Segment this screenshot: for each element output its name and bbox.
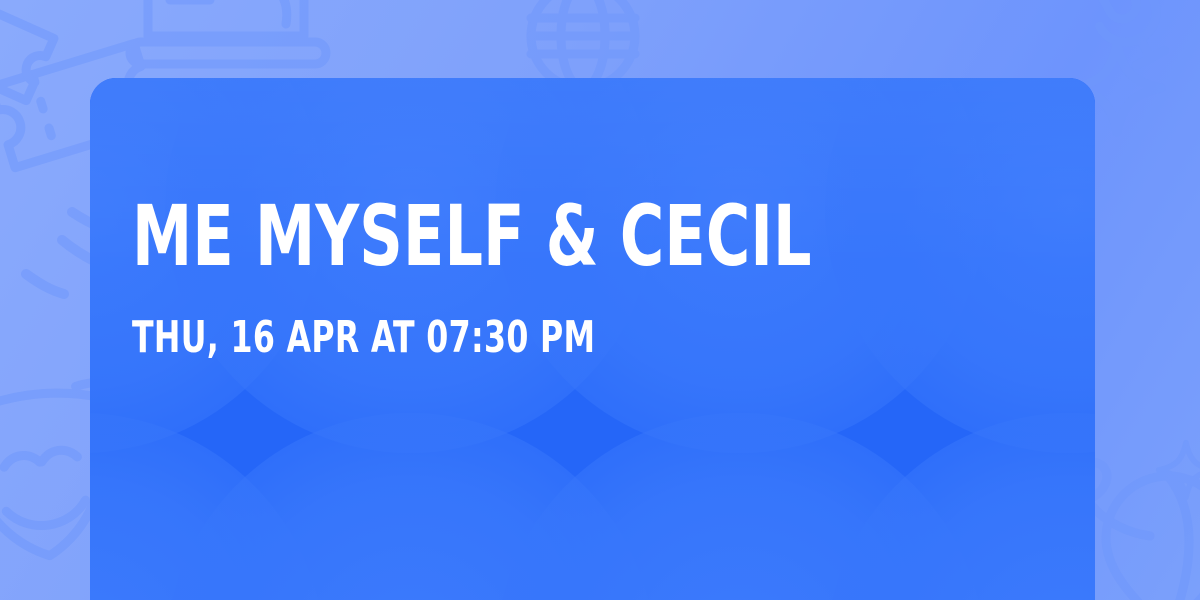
ticket-icon (0, 10, 54, 101)
event-banner: ME MYSELF & CECIL THU, 16 APR AT 07:30 P… (0, 0, 1200, 600)
laptop-icon (130, 0, 326, 64)
globe-icon (531, 0, 635, 88)
event-card[interactable]: ME MYSELF & CECIL THU, 16 APR AT 07:30 P… (90, 78, 1095, 600)
event-datetime: THU, 16 APR AT 07:30 PM (132, 316, 870, 360)
sparkle-icon (1159, 443, 1200, 498)
event-title: ME MYSELF & CECIL (132, 200, 870, 272)
microphone-icon (1073, 0, 1177, 72)
event-details: ME MYSELF & CECIL THU, 16 APR AT 07:30 P… (132, 200, 1055, 360)
hot-air-balloon-icon (1106, 476, 1200, 600)
